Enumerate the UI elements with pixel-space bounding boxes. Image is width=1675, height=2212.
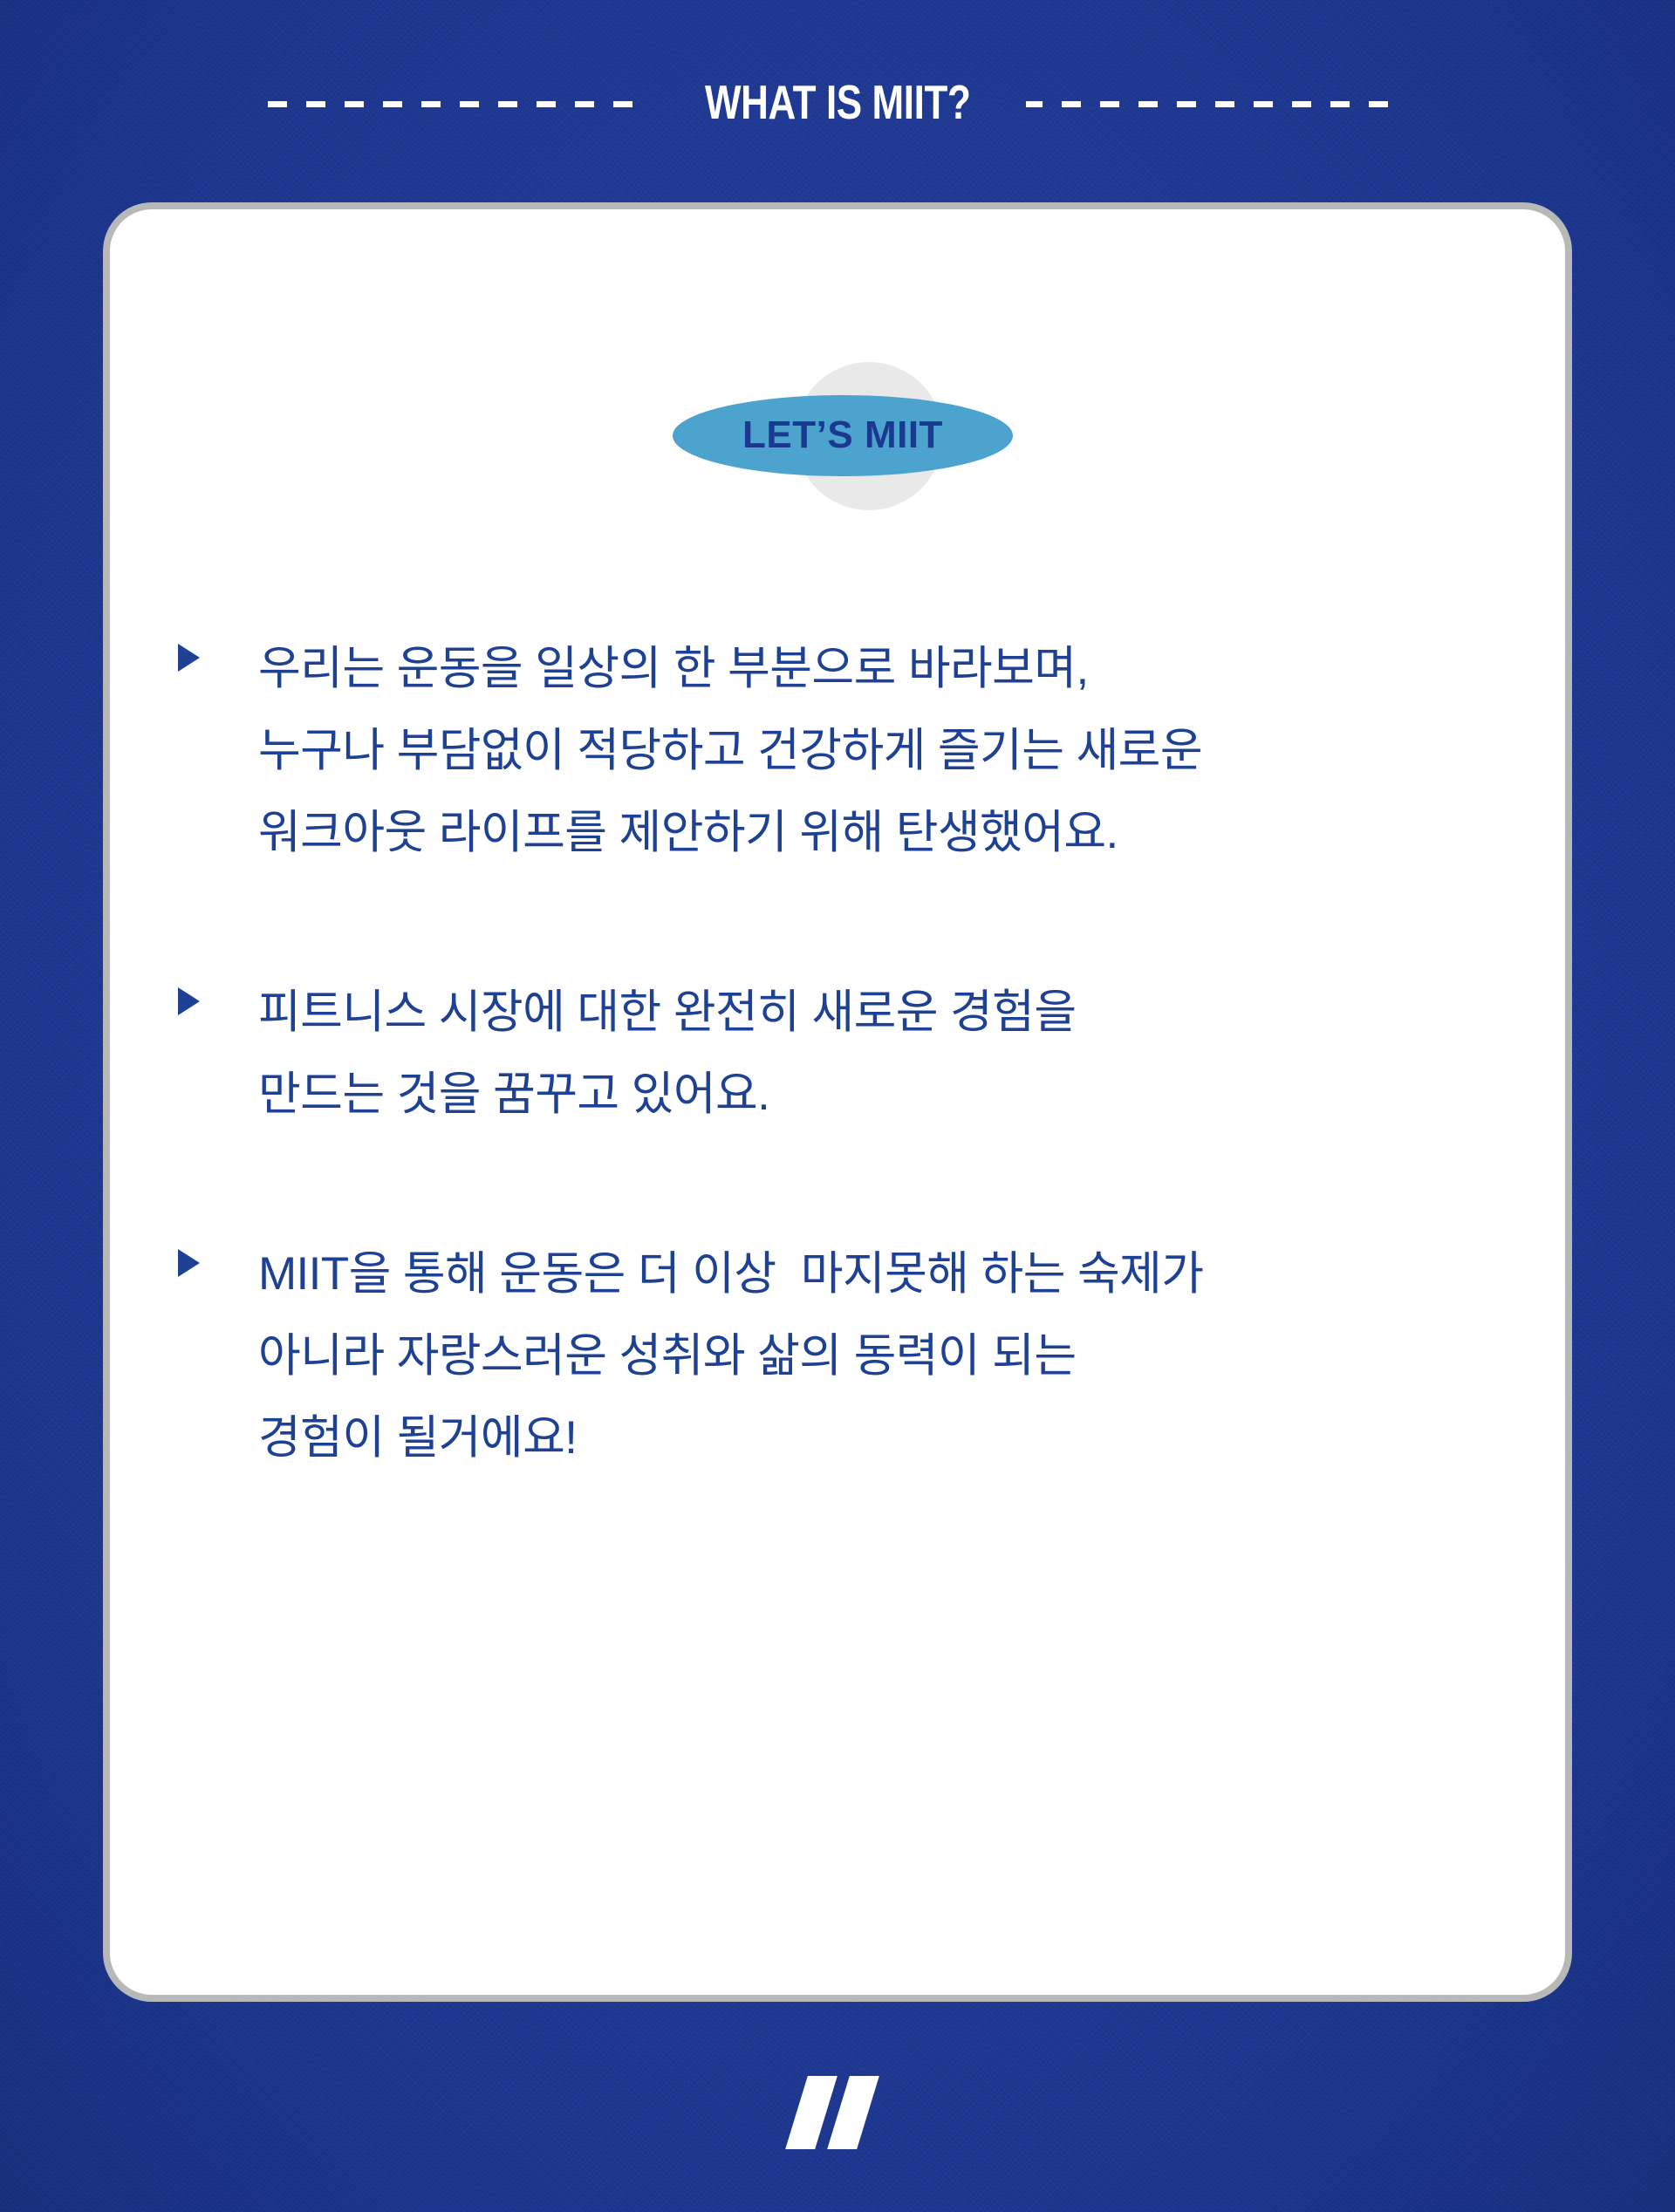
page-title: WHAT IS MIIT? xyxy=(705,79,970,130)
bullet-line: 워크아웃 라이프를 제안하기 위해 탄생했어요. xyxy=(258,792,1523,874)
bullet-line: 만드는 것을 꿈꾸고 있어요. xyxy=(258,1054,1523,1136)
badge-label: LET’S MIIT xyxy=(742,416,943,456)
bullet-line: 아니라 자랑스러운 성취와 삶의 동력이 되는 xyxy=(258,1315,1523,1397)
triangle-right-icon xyxy=(178,644,200,672)
bullet-item: 우리는 운동을 일상의 한 부분으로 바라보며, 누구나 부담없이 적당하고 건… xyxy=(162,628,1523,874)
triangle-right-icon xyxy=(178,1249,200,1277)
bullet-line: 피트니스 시장에 대한 완전히 새로운 경험을 xyxy=(258,972,1523,1054)
lets-miit-badge: LET’S MIIT xyxy=(668,358,1017,515)
bullet-line: 누구나 부담없이 적당하고 건강하게 즐기는 새로운 xyxy=(258,710,1523,792)
planet-ring-icon: LET’S MIIT xyxy=(673,395,1013,476)
bullet-line: 경험이 될거에요! xyxy=(258,1397,1523,1479)
dashed-rule-left-icon xyxy=(268,101,649,107)
content-card: LET’S MIIT 우리는 운동을 일상의 한 부분으로 바라보며, 누구나 … xyxy=(103,202,1572,2002)
double-slash-logo-icon xyxy=(781,2076,894,2154)
dashed-rule-right-icon xyxy=(1026,101,1407,107)
bullet-item: 피트니스 시장에 대한 완전히 새로운 경험을 만드는 것을 꿈꾸고 있어요. xyxy=(162,972,1523,1136)
bullet-list: 우리는 운동을 일상의 한 부분으로 바라보며, 누구나 부담없이 적당하고 건… xyxy=(162,628,1523,1479)
bullet-line: MIIT을 통해 운동은 더 이상 마지못해 하는 숙제가 xyxy=(258,1233,1523,1315)
triangle-right-icon xyxy=(178,987,200,1015)
slide-canvas: WHAT IS MIIT? LET’S MIIT 우리는 운동을 일상의 한 부… xyxy=(0,0,1675,2212)
bullet-item: MIIT을 통해 운동은 더 이상 마지못해 하는 숙제가 아니라 자랑스러운 … xyxy=(162,1233,1523,1479)
page-header: WHAT IS MIIT? xyxy=(0,68,1675,140)
bullet-line: 우리는 운동을 일상의 한 부분으로 바라보며, xyxy=(258,628,1523,710)
slash-bar-second xyxy=(827,2076,879,2149)
